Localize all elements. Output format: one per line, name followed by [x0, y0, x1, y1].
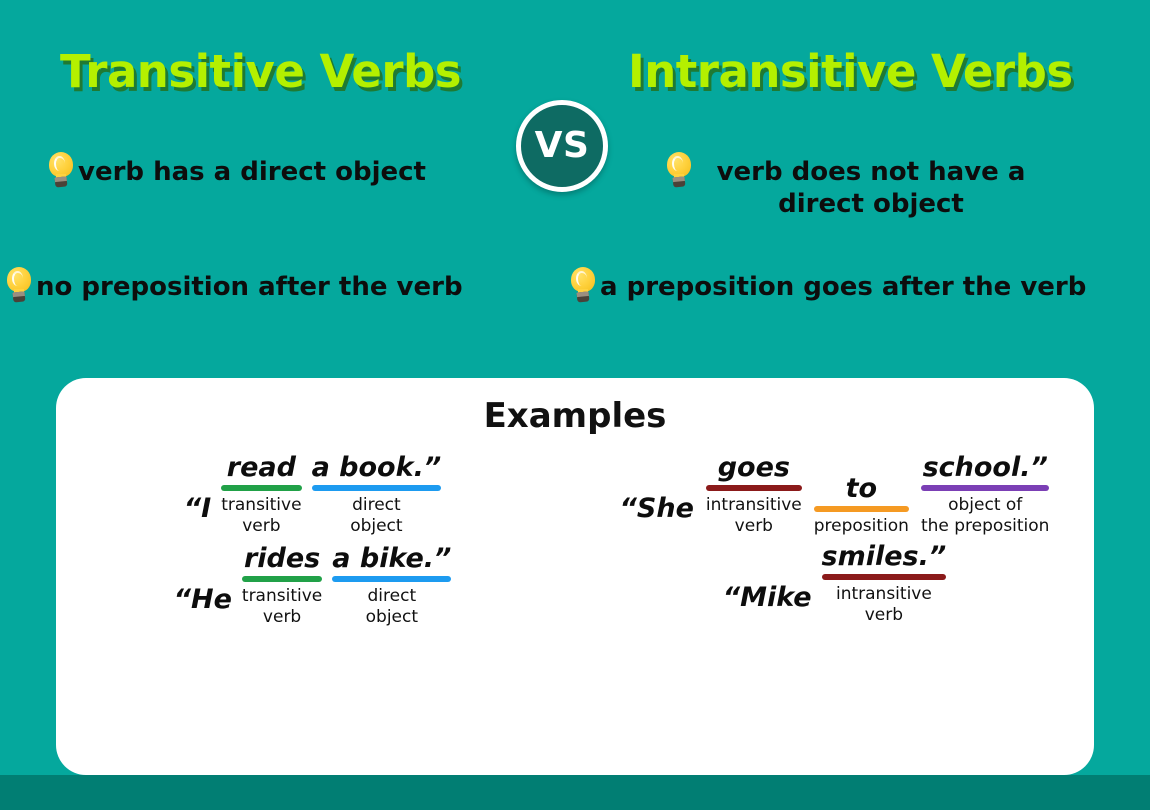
- examples-column-intransitive: “Shegoesintransitive verbtoprepositionsc…: [575, 454, 1094, 634]
- example-row: “Shegoesintransitive verbtoprepositionsc…: [575, 454, 1094, 537]
- sentence-segment: “He: [174, 586, 232, 627]
- vs-badge: VS: [516, 100, 608, 192]
- sentence-segment: a bike.”direct object: [332, 545, 451, 628]
- bullet-intransitive-no-direct-object: verb does not have a direct object: [666, 155, 1046, 220]
- examples-title: Examples: [56, 396, 1094, 436]
- segment-word: goes: [718, 454, 790, 482]
- bullet-transitive-direct-object: verb has a direct object: [48, 155, 478, 190]
- segment-underline: [312, 485, 442, 491]
- example-row: “Ireadtransitive verba book.”direct obje…: [50, 454, 575, 537]
- segment-underline: [332, 576, 451, 582]
- segment-word: smiles.”: [822, 543, 947, 571]
- example-row: “Mikesmiles.”intransitive verb: [575, 543, 1094, 626]
- sentence-segment: readtransitive verb: [221, 454, 301, 537]
- sentence-segment: “I: [184, 495, 211, 536]
- sentence-segment: a book.”direct object: [312, 454, 442, 537]
- segment-word: a book.”: [312, 454, 442, 482]
- sentence-segment: topreposition: [814, 475, 909, 537]
- segment-underline: [706, 485, 802, 491]
- segment-word: rides: [244, 545, 320, 573]
- examples-columns: “Ireadtransitive verba book.”direct obje…: [56, 454, 1094, 634]
- segment-word: “He: [174, 586, 232, 614]
- examples-card: Examples “Ireadtransitive verba book.”di…: [56, 378, 1094, 775]
- vs-label: VS: [535, 128, 590, 164]
- lightbulb-icon: [570, 267, 596, 305]
- sentence-segment: “She: [620, 495, 694, 536]
- lightbulb-icon: [6, 267, 32, 305]
- example-sentence: “Shegoesintransitive verbtoprepositionsc…: [575, 454, 1094, 537]
- segment-label: transitive verb: [221, 495, 301, 536]
- lightbulb-icon: [666, 152, 692, 190]
- segment-label: direct object: [350, 495, 402, 536]
- segment-word: school.”: [923, 454, 1048, 482]
- bullet-intransitive-preposition: a preposition goes after the verb: [570, 270, 1140, 305]
- bullet-label: verb has a direct object: [78, 155, 426, 189]
- segment-underline: [221, 485, 301, 491]
- segment-word: “Mike: [723, 584, 812, 612]
- segment-label: intransitive verb: [706, 495, 802, 536]
- examples-column-transitive: “Ireadtransitive verba book.”direct obje…: [56, 454, 575, 634]
- segment-underline: [822, 574, 947, 580]
- segment-label: transitive verb: [242, 586, 322, 627]
- sentence-segment: school.”object of the preposition: [921, 454, 1050, 537]
- example-sentence: “Ireadtransitive verba book.”direct obje…: [50, 454, 575, 537]
- segment-word: read: [227, 454, 296, 482]
- segment-underline: [921, 485, 1050, 491]
- segment-label: intransitive verb: [836, 584, 932, 625]
- bullet-transitive-no-preposition: no preposition after the verb: [6, 270, 516, 305]
- sentence-segment: smiles.”intransitive verb: [822, 543, 947, 626]
- bullet-label: no preposition after the verb: [36, 270, 463, 304]
- sentence-segment: ridestransitive verb: [242, 545, 322, 628]
- segment-underline: [814, 506, 909, 512]
- footer-band: [0, 775, 1150, 810]
- segment-underline: [242, 576, 322, 582]
- example-sentence: “Mikesmiles.”intransitive verb: [575, 543, 1094, 626]
- example-sentence: “Heridestransitive verba bike.”direct ob…: [50, 545, 575, 628]
- sentence-segment: “Mike: [723, 584, 812, 625]
- sentence-segment: goesintransitive verb: [706, 454, 802, 537]
- lightbulb-icon: [48, 152, 74, 190]
- segment-label: object of the preposition: [921, 495, 1050, 536]
- segment-word: “I: [184, 495, 211, 523]
- bullet-label: verb does not have a direct object: [696, 155, 1046, 220]
- segment-word: “She: [620, 495, 694, 523]
- segment-word: a bike.”: [332, 545, 451, 573]
- bullet-label: a preposition goes after the verb: [600, 270, 1086, 304]
- segment-label: preposition: [814, 516, 909, 537]
- segment-label: direct object: [366, 586, 418, 627]
- example-row: “Heridestransitive verba bike.”direct ob…: [50, 545, 575, 628]
- title-intransitive-verbs: Intransitive Verbs: [628, 45, 1073, 98]
- title-transitive-verbs: Transitive Verbs: [60, 45, 461, 98]
- infographic-canvas: Transitive Verbs Intransitive Verbs VS v…: [0, 0, 1150, 810]
- segment-word: to: [846, 475, 877, 503]
